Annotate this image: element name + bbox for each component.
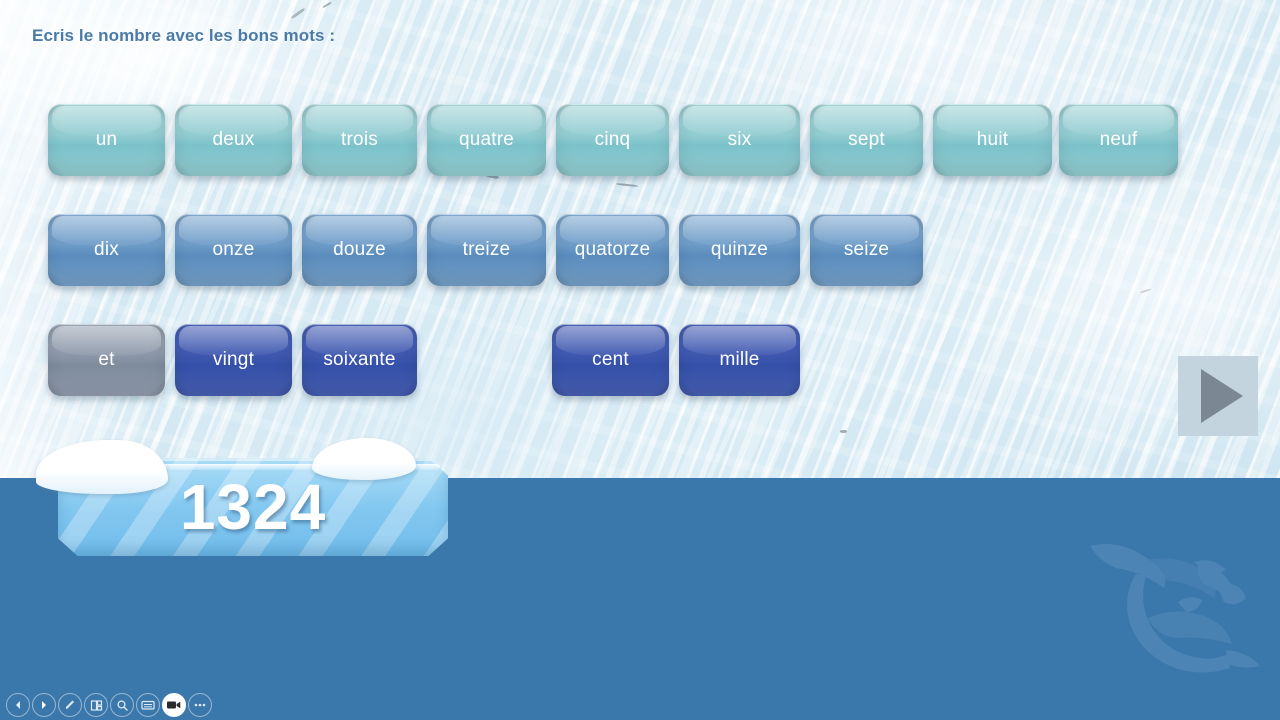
word-button-label: un	[96, 129, 118, 151]
snow-cap-left	[36, 440, 168, 494]
word-button-deux[interactable]: deux	[175, 104, 292, 176]
word-button-label: cent	[592, 349, 629, 371]
bottom-toolbar	[0, 690, 1280, 720]
word-button-label: cinq	[595, 129, 631, 151]
word-button-un[interactable]: un	[48, 104, 165, 176]
word-button-six[interactable]: six	[679, 104, 800, 176]
word-button-et[interactable]: et	[48, 324, 165, 396]
more-icon	[193, 702, 207, 708]
word-button-label: deux	[212, 129, 254, 151]
word-button-seize[interactable]: seize	[810, 214, 923, 286]
word-button-label: et	[98, 349, 114, 371]
search-button[interactable]	[110, 693, 134, 717]
word-button-onze[interactable]: onze	[175, 214, 292, 286]
word-button-label: trois	[341, 129, 378, 151]
word-button-mille[interactable]: mille	[679, 324, 800, 396]
word-button-quatorze[interactable]: quatorze	[556, 214, 669, 286]
word-button-label: sept	[848, 129, 885, 151]
word-button-huit[interactable]: huit	[933, 104, 1052, 176]
word-button-row-units: undeuxtroisquatrecinqsixsepthuitneuf	[0, 104, 1280, 182]
word-button-dix[interactable]: dix	[48, 214, 165, 286]
word-button-label: treize	[463, 239, 511, 261]
pen-icon	[63, 698, 77, 712]
word-button-douze[interactable]: douze	[302, 214, 417, 286]
pages-button[interactable]	[84, 693, 108, 717]
word-button-vingt[interactable]: vingt	[175, 324, 292, 396]
more-button[interactable]	[188, 693, 212, 717]
word-button-label: dix	[94, 239, 119, 261]
next-button[interactable]	[32, 693, 56, 717]
keyboard-icon	[141, 699, 155, 711]
word-button-row-teens: dixonzedouzetreizequatorzequinzeseize	[0, 214, 1280, 292]
pen-button[interactable]	[58, 693, 82, 717]
word-button-soixante[interactable]: soixante	[302, 324, 417, 396]
word-button-label: vingt	[213, 349, 254, 371]
word-button-label: huit	[977, 129, 1008, 151]
word-button-cinq[interactable]: cinq	[556, 104, 669, 176]
next-icon	[38, 699, 50, 711]
word-button-trois[interactable]: trois	[302, 104, 417, 176]
keyboard-button[interactable]	[136, 693, 160, 717]
snow-cap-right	[312, 438, 416, 480]
word-button-sept[interactable]: sept	[810, 104, 923, 176]
word-button-label: onze	[212, 239, 254, 261]
word-button-row-large: etvingtsoixantecentmille	[0, 324, 1280, 402]
word-button-neuf[interactable]: neuf	[1059, 104, 1178, 176]
number-plaque: 1324	[30, 434, 460, 566]
word-button-label: soixante	[323, 349, 395, 371]
word-button-label: six	[728, 129, 752, 151]
word-button-label: quinze	[711, 239, 768, 261]
pages-icon	[90, 699, 103, 712]
word-button-quinze[interactable]: quinze	[679, 214, 800, 286]
word-button-label: quatre	[459, 129, 514, 151]
video-camera-icon	[166, 699, 182, 711]
search-icon	[116, 699, 129, 712]
dragon-watermark	[1086, 526, 1272, 694]
play-icon	[1201, 369, 1243, 423]
previous-button[interactable]	[6, 693, 30, 717]
word-button-label: mille	[719, 349, 759, 371]
previous-icon	[12, 699, 24, 711]
word-button-quatre[interactable]: quatre	[427, 104, 546, 176]
word-button-cent[interactable]: cent	[552, 324, 669, 396]
word-button-label: neuf	[1100, 129, 1138, 151]
play-button[interactable]	[1178, 356, 1258, 436]
lesson-screen: Ecris le nombre avec les bons mots : und…	[0, 0, 1280, 720]
video-camera-button[interactable]	[162, 693, 186, 717]
page-title: Ecris le nombre avec les bons mots :	[32, 26, 335, 46]
word-button-label: seize	[844, 239, 889, 261]
word-button-treize[interactable]: treize	[427, 214, 546, 286]
word-button-label: douze	[333, 239, 386, 261]
word-button-label: quatorze	[575, 239, 651, 261]
